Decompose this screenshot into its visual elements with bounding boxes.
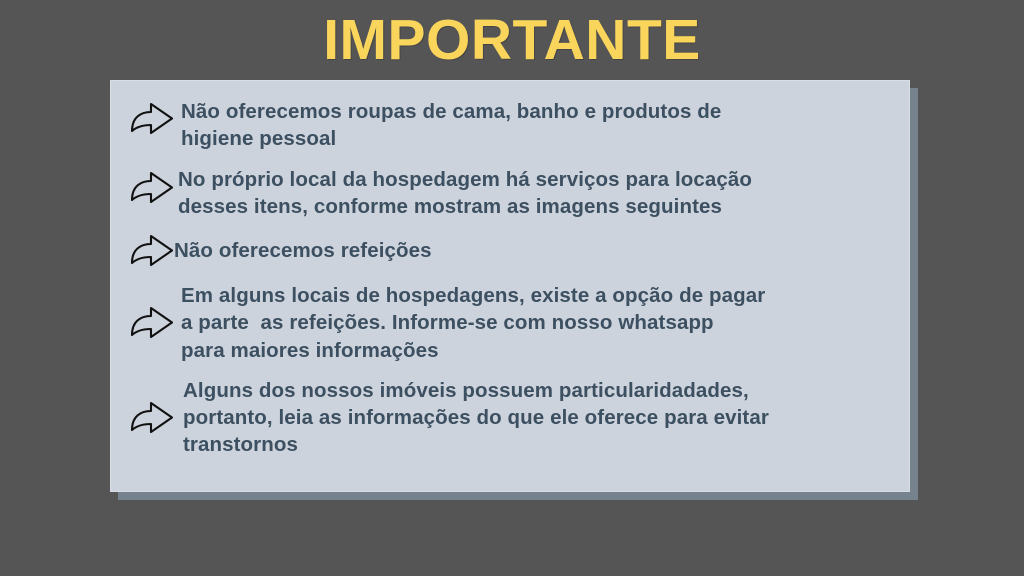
page-title: IMPORTANTE bbox=[0, 8, 1024, 74]
list-item-label: Em alguns locais de hospedagens, existe … bbox=[181, 282, 893, 364]
list-item-label: No próprio local da hospedagem há serviç… bbox=[178, 166, 893, 221]
list-item-label: Alguns dos nossos imóveis possuem partic… bbox=[183, 377, 893, 459]
list-item-label: Não oferecemos roupas de cama, banho e p… bbox=[181, 97, 893, 153]
list-item: No próprio local da hospedagem há serviç… bbox=[129, 166, 893, 221]
curved-right-arrow-icon bbox=[129, 166, 181, 206]
curved-right-arrow-icon bbox=[129, 305, 181, 341]
curved-right-arrow-icon bbox=[129, 400, 181, 436]
list-item: Alguns dos nossos imóveis possuem partic… bbox=[129, 377, 893, 459]
list-item: Em alguns locais de hospedagens, existe … bbox=[129, 282, 893, 364]
slide-canvas: IMPORTANTE Não oferecemos roupas de cama… bbox=[0, 0, 1024, 576]
bullet-list: Não oferecemos roupas de cama, banho e p… bbox=[111, 81, 911, 493]
list-item-label: Não oferecemos refeições bbox=[174, 237, 893, 264]
content-panel: Não oferecemos roupas de cama, banho e p… bbox=[110, 80, 910, 492]
list-item: Não oferecemos roupas de cama, banho e p… bbox=[129, 97, 893, 153]
curved-right-arrow-icon bbox=[129, 97, 181, 137]
list-item: Não oferecemos refeições bbox=[129, 233, 893, 269]
